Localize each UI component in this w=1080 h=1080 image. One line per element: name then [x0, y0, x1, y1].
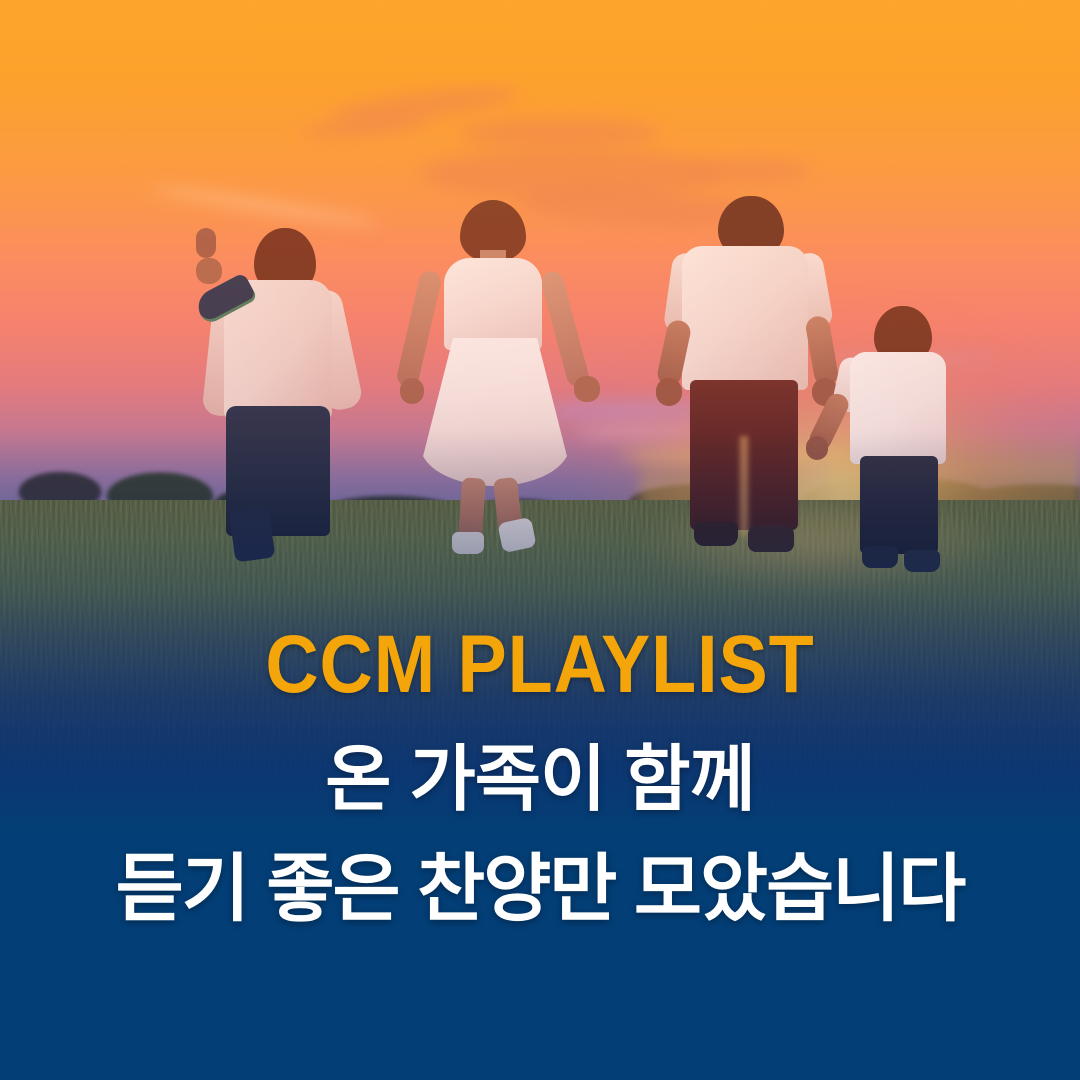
mother-silhouette: [404, 200, 614, 560]
shoe-left: [862, 546, 898, 568]
hand-left: [656, 378, 682, 406]
boy-youngest-silhouette: [832, 306, 982, 578]
dress-skirt: [420, 338, 570, 486]
trousers: [860, 456, 938, 554]
subtitle-line-2: 듣기 좋은 찬양만 모았습니다: [0, 852, 1080, 926]
hand-right: [196, 258, 222, 284]
cloud-icon: [690, 160, 810, 182]
ccm-playlist-poster: CCM PLAYLIST 온 가족이 함께 듣기 좋은 찬양만 모았습니다: [0, 0, 1080, 1080]
subtitle-line-1: 온 가족이 함께: [0, 744, 1080, 816]
caption-block: CCM PLAYLIST 온 가족이 함께 듣기 좋은 찬양만 모았습니다: [0, 624, 1080, 926]
hand-right: [574, 376, 600, 402]
hand-left: [196, 228, 216, 258]
leg-raised: [229, 505, 276, 562]
sandal-right: [497, 517, 536, 553]
shoe-left: [694, 522, 738, 546]
sandal-left: [452, 532, 484, 554]
dress-bodice: [444, 258, 542, 350]
playlist-title: CCM PLAYLIST: [54, 624, 1026, 706]
boy-eldest-silhouette: [196, 228, 376, 558]
father-silhouette: [664, 196, 854, 566]
shirt: [850, 352, 946, 464]
arm-right: [539, 269, 591, 389]
cloud-icon: [460, 118, 660, 148]
hand-left: [400, 378, 424, 404]
backlight-glow: [740, 436, 748, 536]
shirt: [682, 246, 808, 390]
hand-left: [806, 436, 828, 460]
shoe-right: [748, 526, 794, 552]
shoe-right: [904, 550, 940, 572]
